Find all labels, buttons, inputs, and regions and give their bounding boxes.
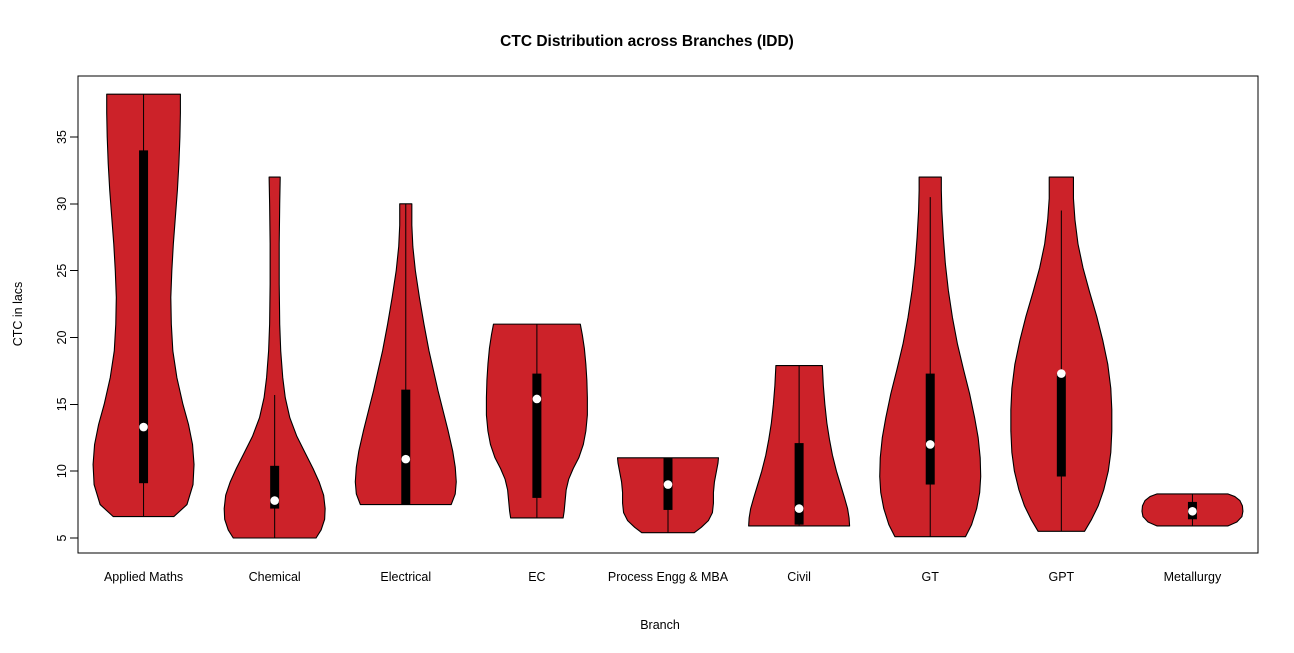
chart-title: CTC Distribution across Branches (IDD) <box>500 33 794 50</box>
interquartile-box <box>926 374 935 485</box>
x-tick-label-gt: GT <box>922 570 940 584</box>
median-marker <box>270 496 279 505</box>
x-axis-title: Branch <box>640 618 680 632</box>
y-tick-label: 15 <box>55 397 69 411</box>
interquartile-box <box>532 374 541 498</box>
interquartile-box <box>401 390 410 505</box>
plot-canvas: CTC Distribution across Branches (IDD) C… <box>0 0 1294 653</box>
interquartile-box <box>139 150 148 483</box>
y-tick-label: 30 <box>55 197 69 211</box>
x-tick-label-ec: EC <box>528 570 545 584</box>
median-marker <box>533 395 542 404</box>
x-tick-label-gpt: GPT <box>1048 570 1074 584</box>
median-marker <box>401 455 410 464</box>
y-tick-label: 10 <box>55 464 69 478</box>
violin-plot-figure: CTC Distribution across Branches (IDD) C… <box>0 0 1294 653</box>
median-marker <box>926 440 935 449</box>
median-marker <box>795 504 804 513</box>
y-tick-label: 25 <box>55 264 69 278</box>
violin-metallurgy <box>1142 494 1243 526</box>
interquartile-box <box>1057 374 1066 477</box>
x-tick-label-applied-maths: Applied Maths <box>104 570 183 584</box>
x-tick-label-metallurgy: Metallurgy <box>1164 570 1222 584</box>
x-tick-label-electrical: Electrical <box>380 570 431 584</box>
figure-background <box>0 0 1294 653</box>
x-tick-label-civil: Civil <box>787 570 811 584</box>
y-tick-label: 5 <box>55 534 69 541</box>
median-marker <box>664 480 673 489</box>
x-tick-label-process-engg-mba: Process Engg & MBA <box>608 570 729 584</box>
y-axis-title: CTC in lacs <box>11 282 25 347</box>
y-tick-label: 20 <box>55 331 69 345</box>
x-axis: Applied MathsChemicalElectricalECProcess… <box>104 570 1222 584</box>
median-marker <box>1057 369 1066 378</box>
violin-process-engg-mba <box>618 458 719 533</box>
median-marker <box>139 423 148 432</box>
x-tick-label-chemical: Chemical <box>249 570 301 584</box>
y-tick-label: 35 <box>55 130 69 144</box>
median-marker <box>1188 507 1197 516</box>
